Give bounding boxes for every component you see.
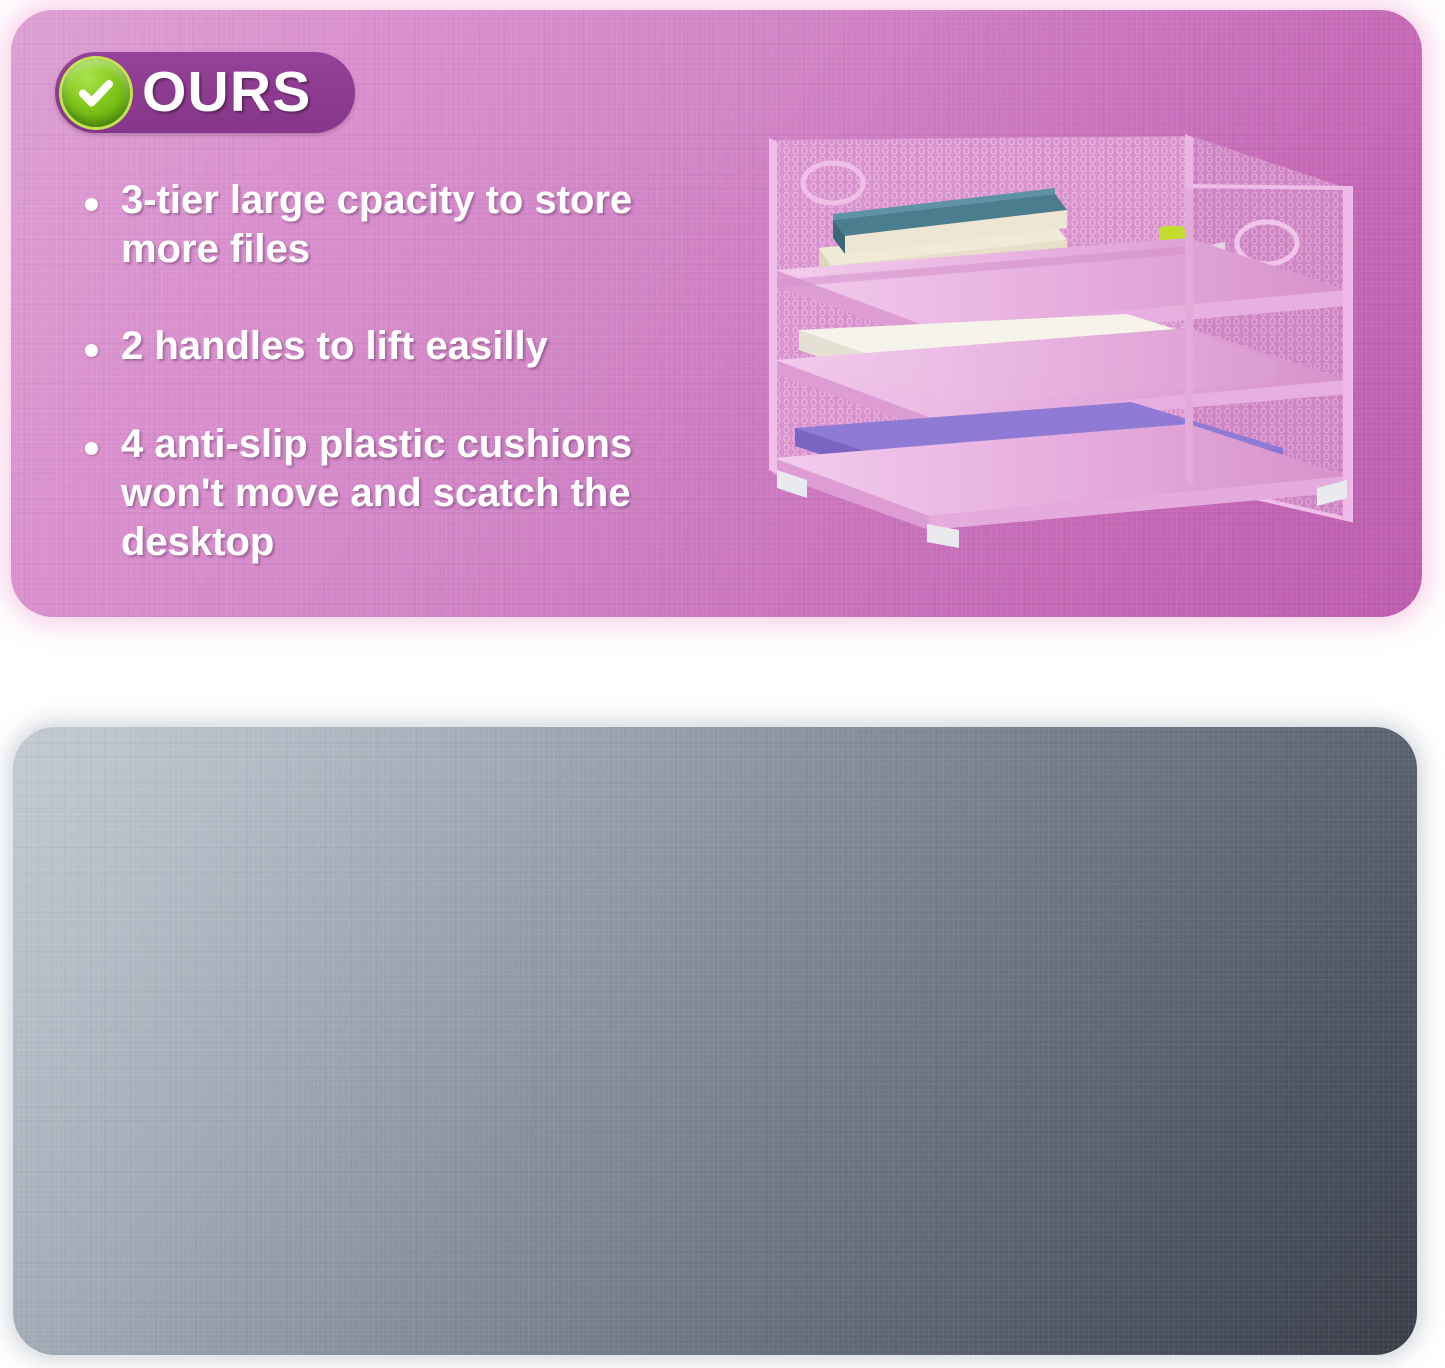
comparison-infographic: OURS 3-tier large cpacity to store more … <box>0 0 1445 1368</box>
bullet-dot-icon <box>85 344 98 357</box>
badge-ours-label: OURS <box>142 64 311 121</box>
check-circle-icon <box>62 59 130 127</box>
bullet-dot-icon <box>85 198 98 211</box>
bullet-text: 3-tier large cpacity to store more files <box>121 176 725 274</box>
product-image-ours <box>755 128 1371 548</box>
panel-others: OTHERS Only 2 tiers No handles,hard to u… <box>13 727 1417 1355</box>
bullet-text: 2 handles to lift easilly <box>121 322 725 371</box>
list-item: 2 handles to lift easilly <box>85 322 725 371</box>
panel-ours: OURS 3-tier large cpacity to store more … <box>11 10 1422 617</box>
list-item: 3-tier large cpacity to store more files <box>85 176 725 274</box>
list-item: 4 anti-slip plastic cushions won't move … <box>85 420 725 568</box>
card-texture-others <box>13 727 1417 1355</box>
bullet-text: 4 anti-slip plastic cushions won't move … <box>121 420 725 568</box>
badge-ours: OURS <box>55 52 355 133</box>
bullet-list-ours: 3-tier large cpacity to store more files… <box>85 176 725 567</box>
bullet-dot-icon <box>85 442 98 455</box>
